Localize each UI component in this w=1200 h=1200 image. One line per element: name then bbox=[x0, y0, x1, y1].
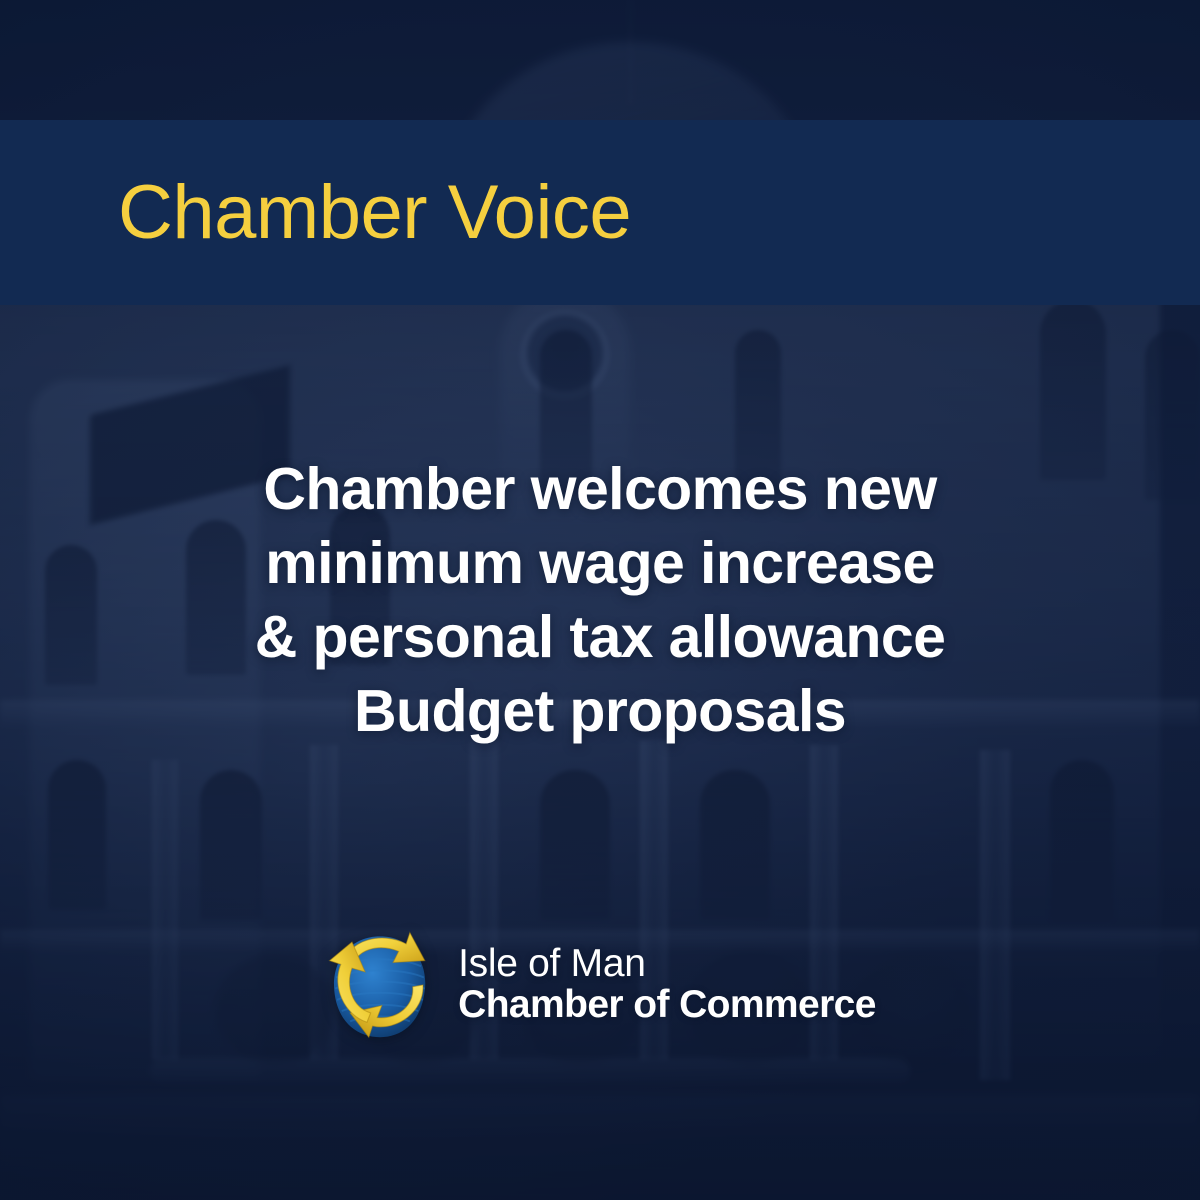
header-band: Chamber Voice bbox=[0, 120, 1200, 305]
logo-line-isle-of-man: Isle of Man bbox=[458, 943, 876, 984]
headline: Chamber welcomes new minimum wage increa… bbox=[0, 452, 1200, 748]
page-title: Chamber Voice bbox=[0, 175, 631, 251]
headline-line-3: & personal tax allowance bbox=[110, 600, 1090, 674]
logo-wordmark: Isle of Man Chamber of Commerce bbox=[458, 943, 876, 1026]
headline-line-1: Chamber welcomes new bbox=[110, 452, 1090, 526]
headline-line-2: minimum wage increase bbox=[110, 526, 1090, 600]
isle-of-man-chamber-triskelion-logo-icon bbox=[324, 925, 436, 1043]
headline-line-4: Budget proposals bbox=[110, 674, 1090, 748]
logo-line-chamber-of-commerce: Chamber of Commerce bbox=[458, 984, 876, 1025]
social-card: Chamber Voice Chamber welcomes new minim… bbox=[0, 0, 1200, 1200]
logo-lockup: Isle of Man Chamber of Commerce bbox=[0, 925, 1200, 1043]
